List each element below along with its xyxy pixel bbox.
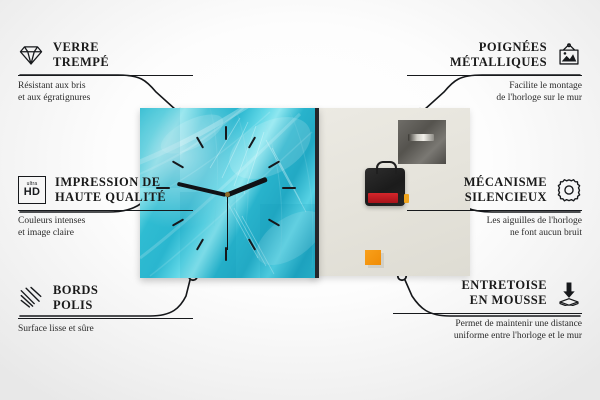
feature-description: Couleurs intenses et image claire bbox=[18, 215, 193, 239]
mechanism-hook bbox=[376, 161, 397, 174]
feature-impression-haute-qualite: ultra HD IMPRESSION DE HAUTE QUALITÉ Cou… bbox=[18, 175, 193, 239]
feature-title: VERRE TREMPÉ bbox=[53, 40, 109, 70]
feature-entretoise-en-mousse: ENTRETOISE EN MOUSSE Permet de maintenir… bbox=[393, 278, 582, 342]
title-rule bbox=[407, 210, 582, 211]
feature-mecanisme-silencieux: MÉCANISME SILENCIEUX Les aiguilles de l'… bbox=[407, 175, 582, 239]
ultra-hd-icon: ultra HD bbox=[18, 176, 46, 204]
clock-mechanism bbox=[365, 168, 405, 206]
feature-description: Les aiguilles de l'horloge ne font aucun… bbox=[407, 215, 582, 239]
feature-title: MÉCANISME SILENCIEUX bbox=[464, 175, 547, 205]
polished-edges-icon bbox=[18, 285, 44, 311]
spacer-arrow-icon bbox=[556, 280, 582, 306]
metal-hanger-plate bbox=[398, 120, 446, 164]
feature-poignees-metalliques: POIGNÉES MÉTALLIQUES Facilite le montage… bbox=[407, 40, 582, 104]
tick-12 bbox=[225, 126, 227, 140]
feature-title: IMPRESSION DE HAUTE QUALITÉ bbox=[55, 175, 166, 205]
feature-description: Surface lisse et sûre bbox=[18, 323, 193, 335]
feature-title: POIGNÉES MÉTALLIQUES bbox=[450, 40, 547, 70]
tick-3 bbox=[282, 187, 296, 189]
clock-hand-hub bbox=[225, 192, 230, 197]
title-rule bbox=[18, 75, 193, 76]
diamond-icon bbox=[18, 42, 44, 68]
feature-description: Facilite le montage de l'horloge sur le … bbox=[407, 80, 582, 104]
title-rule bbox=[18, 210, 193, 211]
feature-description: Résistant aux bris et aux égratignures bbox=[18, 80, 193, 104]
feature-title: ENTRETOISE EN MOUSSE bbox=[461, 278, 547, 308]
hanger-slot bbox=[408, 134, 434, 141]
foam-spacer bbox=[365, 250, 381, 265]
ultra-hd-icon-main-label: HD bbox=[24, 187, 41, 198]
feature-bords-polis: BORDS POLIS Surface lisse et sûre bbox=[18, 283, 193, 335]
battery bbox=[368, 193, 398, 203]
wall-frame-icon bbox=[556, 42, 582, 68]
infographic-canvas: VERRE TREMPÉ Résistant aux bris et aux é… bbox=[0, 0, 600, 400]
clock-hand-second bbox=[227, 194, 229, 250]
feature-verre-trempe: VERRE TREMPÉ Résistant aux bris et aux é… bbox=[18, 40, 193, 104]
gear-icon bbox=[556, 177, 582, 203]
title-rule bbox=[18, 318, 193, 319]
title-rule bbox=[407, 75, 582, 76]
title-rule bbox=[393, 313, 582, 314]
feature-description: Permet de maintenir une distance uniform… bbox=[393, 318, 582, 342]
feature-title: BORDS POLIS bbox=[53, 283, 98, 313]
